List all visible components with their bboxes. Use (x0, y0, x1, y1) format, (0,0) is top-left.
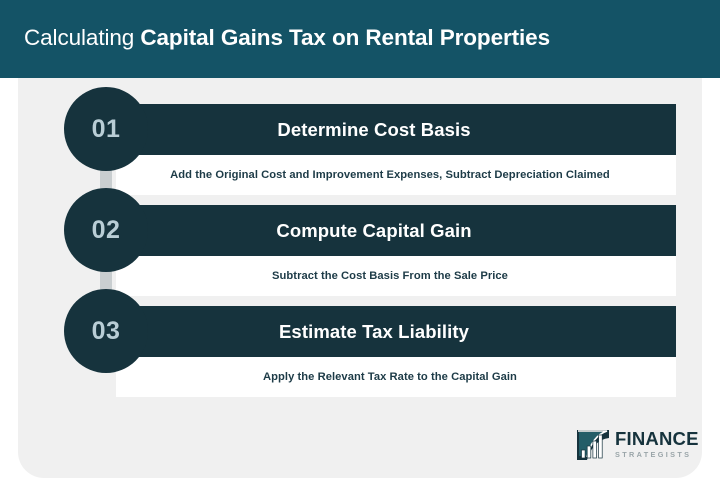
logo-wordmark: FINANCE STRATEGISTS (615, 430, 699, 458)
page-title: Calculating Capital Gains Tax on Rental … (24, 22, 550, 54)
step-title: Compute Capital Gain (276, 220, 471, 242)
step-title-bar: Compute Capital Gain (108, 205, 676, 256)
step-number-badge: 02 (64, 188, 148, 272)
logo-secondary-text: STRATEGISTS (615, 451, 699, 458)
step-number-badge: 03 (64, 289, 148, 373)
logo-primary-text: FINANCE (615, 430, 699, 449)
page-title-bold: Capital Gains Tax on Rental Properties (140, 25, 550, 50)
step-number: 03 (92, 317, 121, 346)
step-description-panel: Subtract the Cost Basis From the Sale Pr… (116, 256, 676, 296)
step-description-panel: Apply the Relevant Tax Rate to the Capit… (116, 357, 676, 397)
step-title: Estimate Tax Liability (279, 321, 469, 343)
step-description: Apply the Relevant Tax Rate to the Capit… (263, 371, 517, 383)
step-title-bar: Determine Cost Basis (108, 104, 676, 155)
step-description: Add the Original Cost and Improvement Ex… (170, 169, 610, 181)
infographic-root: Calculating Capital Gains Tax on Rental … (0, 0, 720, 494)
step-item: Estimate Tax Liability Apply the Relevan… (0, 306, 720, 407)
steps-list: Determine Cost Basis Add the Original Co… (0, 104, 720, 407)
step-description: Subtract the Cost Basis From the Sale Pr… (272, 270, 508, 282)
step-title-bar: Estimate Tax Liability (108, 306, 676, 357)
brand-logo: FINANCE STRATEGISTS (575, 426, 699, 462)
step-number: 01 (92, 115, 121, 144)
bar-chart-logo-icon (575, 426, 611, 462)
page-title-regular: Calculating (24, 25, 140, 50)
step-number: 02 (92, 216, 121, 245)
step-title: Determine Cost Basis (277, 119, 470, 141)
step-description-panel: Add the Original Cost and Improvement Ex… (116, 155, 676, 195)
step-number-badge: 01 (64, 87, 148, 171)
